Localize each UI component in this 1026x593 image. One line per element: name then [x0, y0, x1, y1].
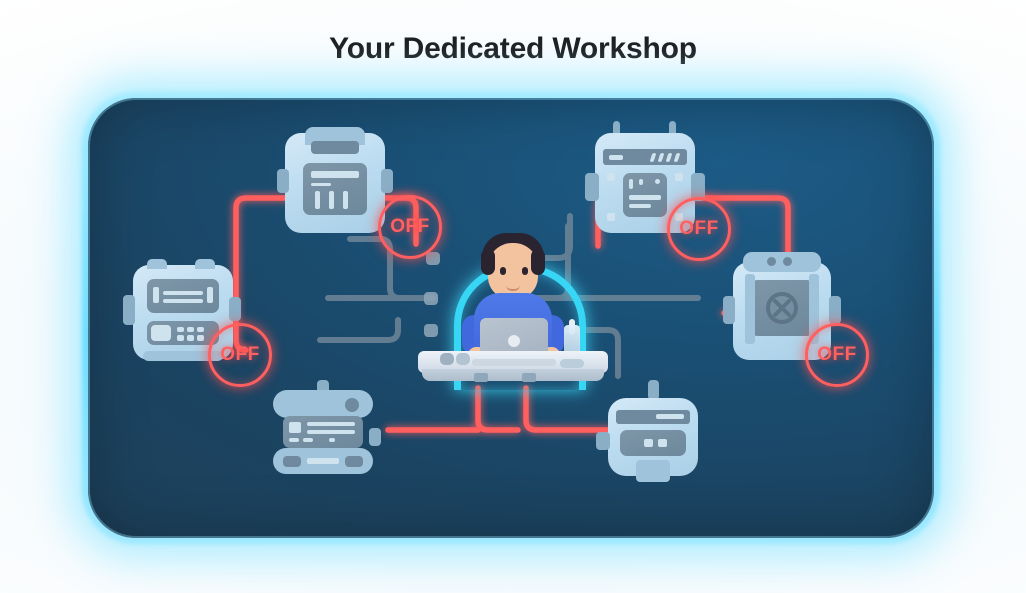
screen-bar: [163, 291, 203, 295]
eye-right: [522, 267, 528, 275]
machine-top-right[interactable]: [595, 133, 695, 233]
off-badge-left[interactable]: OFF: [208, 323, 272, 387]
screen-key: [658, 439, 667, 447]
screen-line: [311, 183, 331, 186]
screen-slider: [343, 191, 348, 209]
machine-screen: [303, 163, 367, 215]
circuit-traces: [88, 98, 934, 538]
corner-mark: [607, 173, 615, 181]
machine-screen: [620, 430, 686, 456]
machine-top-shell: [273, 390, 373, 418]
machine-port-right: [829, 296, 841, 324]
machine-bottom-left[interactable]: [273, 392, 373, 472]
screen-line: [303, 438, 313, 442]
desk-plug-right: [522, 373, 536, 382]
machine-screen: [147, 279, 219, 313]
screen-bar: [629, 204, 651, 208]
vent-slot: [674, 153, 681, 162]
machine-port-right: [369, 428, 381, 446]
keypad-key: [177, 327, 184, 332]
topbar-light: [609, 155, 623, 160]
desk-item-left: [440, 353, 454, 365]
machine-knob: [345, 398, 359, 412]
base-port: [345, 456, 363, 467]
topbar-label: [656, 414, 684, 419]
machine-body: [595, 133, 695, 233]
hand-right: [542, 347, 560, 363]
machine-antenna: [669, 121, 676, 137]
machine-bottom-right[interactable]: [608, 398, 698, 476]
machine-screen: [283, 416, 363, 448]
machine-handle: [311, 141, 359, 154]
hair-side-right: [531, 249, 545, 275]
person-at-laptop: [418, 223, 608, 398]
corner-mark: [607, 213, 615, 221]
screen-bar: [163, 299, 203, 303]
keypad-key: [177, 335, 184, 341]
off-badge-top-right[interactable]: OFF: [667, 197, 731, 261]
laptop-base: [472, 359, 556, 366]
arm-right: [540, 315, 564, 355]
machine-base-shell: [273, 448, 373, 474]
cup: [564, 325, 580, 363]
cup-base: [560, 359, 584, 368]
machine-top-left[interactable]: [285, 133, 385, 233]
machine-top-cap: [743, 252, 821, 272]
machine-port-left: [585, 173, 599, 201]
keypad-key: [187, 327, 194, 332]
machine-rail: [745, 274, 755, 344]
page-title: Your Dedicated Workshop: [0, 32, 1026, 66]
machine-port-right: [691, 173, 705, 201]
machine-foot: [295, 205, 375, 227]
screen-slider: [329, 191, 334, 209]
off-badge-top-left[interactable]: OFF: [378, 195, 442, 259]
machine-cable-stub: [317, 380, 329, 394]
machine-right[interactable]: [733, 262, 831, 360]
screen-key: [644, 439, 653, 447]
keypad-key: [187, 335, 194, 341]
machine-screen: [623, 173, 667, 217]
screen-line: [207, 287, 213, 303]
machine-top-cap: [305, 127, 365, 145]
base-port: [283, 456, 301, 467]
eye-left: [500, 267, 506, 275]
machine-clip: [195, 259, 215, 269]
screen-line: [329, 438, 335, 442]
glow-arch: [454, 265, 586, 390]
hair-side-left: [481, 249, 495, 275]
machine-body: [133, 265, 233, 360]
screen-line: [153, 287, 159, 303]
machine-topbar: [616, 410, 690, 424]
machine-tray: [636, 460, 670, 482]
machine-foot: [143, 351, 223, 361]
machine-body: [285, 133, 385, 233]
disabled-x-icon: [766, 292, 798, 324]
machine-topbar: [603, 149, 687, 165]
screen-bar: [307, 422, 355, 426]
desk-top: [418, 351, 608, 373]
corner-mark: [675, 213, 683, 221]
indicator-dot: [783, 257, 792, 266]
machine-clip: [147, 259, 167, 269]
base-bar: [307, 458, 339, 464]
machine-body: [733, 262, 831, 360]
screen-slider: [315, 191, 320, 209]
power-cables: [88, 98, 934, 538]
screen-dot: [655, 179, 660, 184]
screen-bar: [307, 430, 355, 434]
machine-port-left: [723, 296, 735, 324]
machine-port-right: [381, 169, 393, 193]
pen: [569, 319, 575, 335]
mouth: [506, 285, 520, 291]
machine-keypad: [147, 321, 219, 345]
machine-body: [608, 398, 698, 476]
screen-bar: [311, 171, 359, 178]
laptop-logo: [508, 335, 520, 347]
desk-plug-left: [474, 373, 488, 382]
arm-left: [462, 315, 486, 355]
vent-slot: [666, 153, 673, 162]
laptop-screen: [480, 318, 548, 362]
keypad-key: [197, 327, 204, 332]
desk-item-right: [456, 353, 470, 365]
keypad-key: [197, 335, 204, 341]
screen-bar: [629, 195, 661, 200]
screen-line: [629, 179, 633, 189]
vent-slot: [658, 153, 665, 162]
panel-surface: OFF OFF OFF OFF: [88, 98, 934, 538]
screen-line: [639, 179, 643, 185]
hand-left: [468, 347, 486, 363]
desk-front: [422, 369, 604, 381]
corner-mark: [675, 173, 683, 181]
machine-antenna: [613, 121, 620, 137]
hair: [482, 233, 544, 267]
machine-port-left: [123, 295, 135, 325]
vent-slot: [650, 153, 657, 162]
screen-block: [289, 422, 301, 433]
off-badge-right[interactable]: OFF: [805, 323, 869, 387]
machine-port-left: [277, 169, 289, 193]
screen-line: [289, 438, 299, 442]
keypad-panel: [151, 325, 171, 341]
machine-cable-stub: [648, 380, 659, 400]
indicator-dot: [767, 257, 776, 266]
machine-screen: [753, 280, 811, 336]
workshop-panel: OFF OFF OFF OFF: [88, 98, 934, 538]
torso: [474, 293, 552, 355]
head: [488, 243, 538, 299]
machine-left[interactable]: [133, 265, 233, 360]
machine-port-left: [596, 432, 610, 450]
machine-port-right: [229, 297, 241, 321]
machine-rail: [809, 274, 819, 344]
